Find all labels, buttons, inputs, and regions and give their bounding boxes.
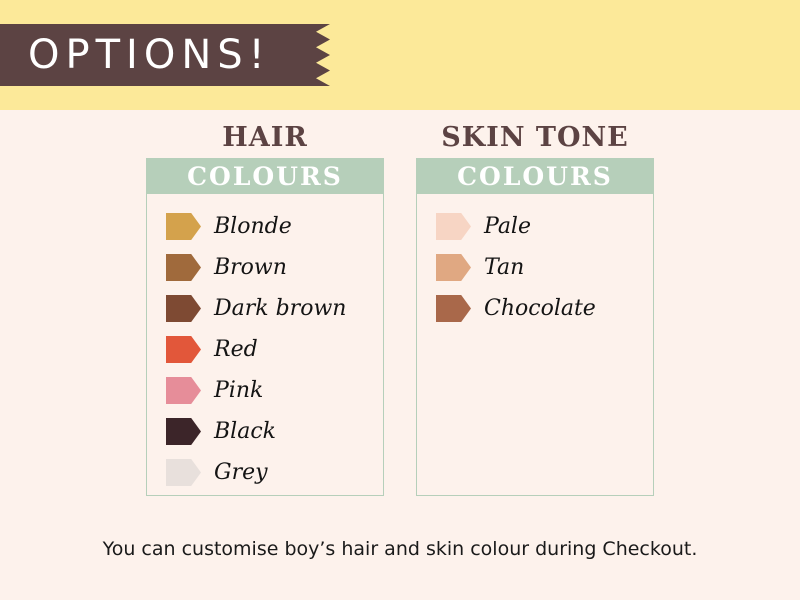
- colour-swatch-pale: [436, 213, 471, 240]
- colour-swatch-red: [166, 336, 201, 363]
- list-item[interactable]: Tan: [417, 247, 653, 288]
- colour-swatch-pink: [166, 377, 201, 404]
- colour-label: Red: [214, 337, 258, 362]
- colour-label: Brown: [214, 255, 287, 280]
- banner-title: OPTIONS!: [28, 24, 271, 86]
- column-title-hair: HAIR: [146, 118, 384, 158]
- list-item[interactable]: Grey: [147, 452, 383, 493]
- colour-swatch-chocolate: [436, 295, 471, 322]
- colour-label: Grey: [214, 460, 268, 485]
- hair-colour-list: Blonde Brown Dark brown Red Pink: [147, 194, 383, 493]
- colour-swatch-dark-brown: [166, 295, 201, 322]
- list-item[interactable]: Brown: [147, 247, 383, 288]
- skin-tone-colours-card: COLOURS Pale Tan Chocolate: [416, 158, 654, 496]
- column-hair: HAIR COLOURS Blonde Brown Dark brown: [146, 118, 384, 496]
- list-item[interactable]: Pale: [417, 206, 653, 247]
- colour-swatch-grey: [166, 459, 201, 486]
- column-title-skin-tone: SKIN TONE: [416, 118, 654, 158]
- colour-swatch-tan: [436, 254, 471, 281]
- footer-caption: You can customise boy’s hair and skin co…: [0, 538, 800, 560]
- list-item[interactable]: Black: [147, 411, 383, 452]
- list-item[interactable]: Dark brown: [147, 288, 383, 329]
- list-item[interactable]: Chocolate: [417, 288, 653, 329]
- colour-label: Tan: [484, 255, 524, 280]
- hair-colours-card: COLOURS Blonde Brown Dark brown Red: [146, 158, 384, 496]
- list-item[interactable]: Pink: [147, 370, 383, 411]
- colour-label: Chocolate: [484, 296, 596, 321]
- colour-label: Pink: [214, 378, 263, 403]
- options-ribbon: OPTIONS!: [0, 24, 330, 86]
- list-item[interactable]: Red: [147, 329, 383, 370]
- colour-label: Black: [214, 419, 276, 444]
- colour-label: Dark brown: [214, 296, 346, 321]
- skin-tone-card-header: COLOURS: [417, 159, 653, 194]
- skin-tone-colour-list: Pale Tan Chocolate: [417, 194, 653, 329]
- top-yellow-band: OPTIONS!: [0, 0, 800, 110]
- colour-swatch-brown: [166, 254, 201, 281]
- column-skin-tone: SKIN TONE COLOURS Pale Tan Chocolate: [416, 118, 654, 496]
- colour-label: Pale: [484, 214, 531, 239]
- hair-card-header: COLOURS: [147, 159, 383, 194]
- colour-label: Blonde: [214, 214, 292, 239]
- colour-swatch-blonde: [166, 213, 201, 240]
- colour-swatch-black: [166, 418, 201, 445]
- ribbon-zigzag-edge-icon: [308, 24, 330, 86]
- list-item[interactable]: Blonde: [147, 206, 383, 247]
